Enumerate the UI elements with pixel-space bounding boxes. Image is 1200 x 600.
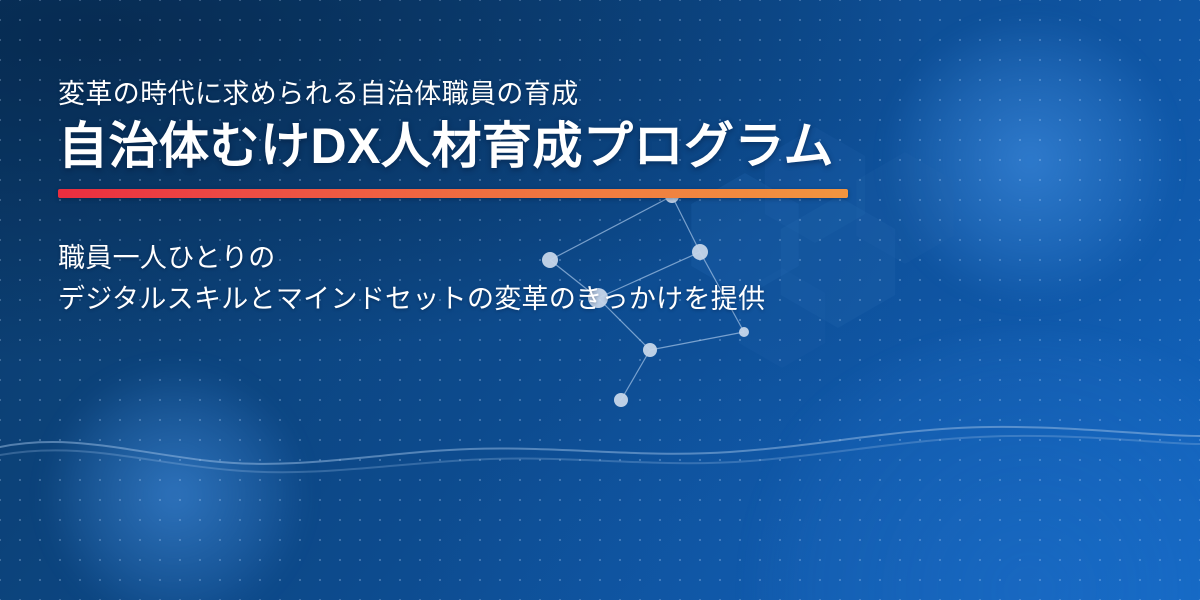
hero-content: 変革の時代に求められる自治体職員の育成 自治体むけDX人材育成プログラム 職員一… [58, 78, 1018, 320]
network-link-6 [621, 350, 650, 400]
hero-lede-line-2: デジタルスキルとマインドセットの変革のきっかけを提供 [58, 279, 1018, 320]
network-link-7 [650, 332, 744, 350]
network-node-n7 [739, 327, 749, 337]
accent-underline-bar [58, 189, 848, 198]
hero-title: 自治体むけDX人材育成プログラム [58, 118, 1018, 175]
network-node-n5 [643, 343, 657, 357]
network-node-n6 [614, 393, 628, 407]
hero-lede: 職員一人ひとりの デジタルスキルとマインドセットの変革のきっかけを提供 [58, 238, 1018, 320]
hero-kicker: 変革の時代に求められる自治体職員の育成 [58, 78, 1018, 112]
hero-banner: 変革の時代に求められる自治体職員の育成 自治体むけDX人材育成プログラム 職員一… [0, 0, 1200, 600]
hero-lede-line-1: 職員一人ひとりの [58, 238, 1018, 279]
